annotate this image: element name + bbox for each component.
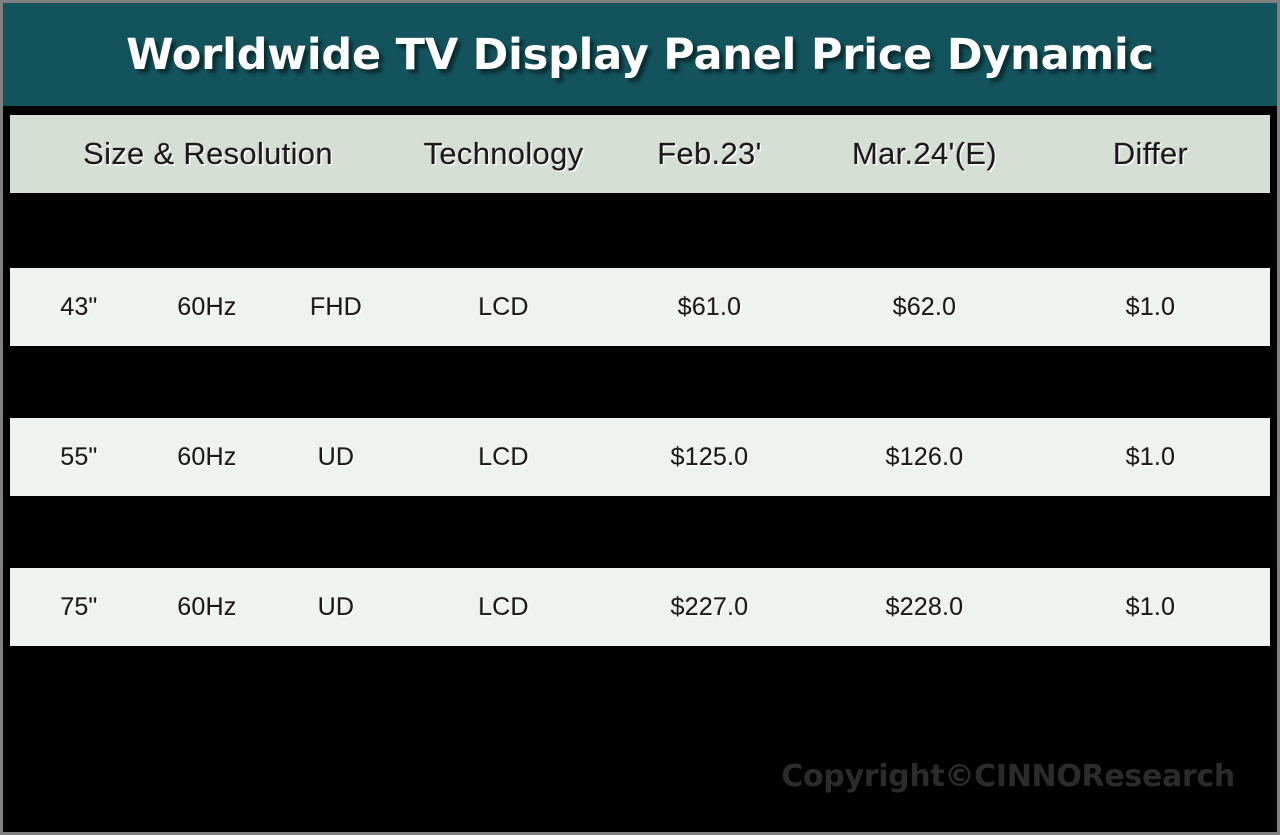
cell-size: 43" (10, 293, 148, 322)
cell-size: 55" (10, 443, 148, 472)
cell-price-feb23: $61.0 (601, 293, 818, 322)
column-header-technology: Technology (406, 136, 601, 172)
cell-refresh-rate: 60Hz (148, 443, 266, 472)
page-title: Worldwide TV Display Panel Price Dynamic (126, 30, 1154, 80)
table-row: 55" 60Hz UD LCD $125.0 $126.0 $1.0 (10, 418, 1270, 496)
cell-price-mar24e: $126.0 (818, 443, 1031, 472)
cell-price-mar24e: $228.0 (818, 593, 1031, 622)
table-row: 43" 60Hz FHD LCD $61.0 $62.0 $1.0 (10, 268, 1270, 346)
cell-technology: LCD (406, 593, 601, 622)
screenshot-canvas: Worldwide TV Display Panel Price Dynamic… (0, 0, 1280, 835)
cell-resolution: FHD (266, 293, 406, 322)
cell-price-differ: $1.0 (1031, 593, 1270, 622)
cell-refresh-rate: 60Hz (148, 293, 266, 322)
cell-price-feb23: $125.0 (601, 443, 818, 472)
table-row: 75" 60Hz UD LCD $227.0 $228.0 $1.0 (10, 568, 1270, 646)
cell-price-mar24e: $62.0 (818, 293, 1031, 322)
cell-resolution: UD (266, 593, 406, 622)
copyright-watermark: Copyright©CINNOResearch (781, 759, 1235, 794)
table-header-row: Size & Resolution Technology Feb.23' Mar… (10, 115, 1270, 193)
column-header-feb23: Feb.23' (601, 136, 818, 172)
cell-technology: LCD (406, 293, 601, 322)
column-header-size-resolution: Size & Resolution (10, 136, 406, 172)
cell-resolution: UD (266, 443, 406, 472)
column-header-differ: Differ (1031, 136, 1270, 172)
cell-refresh-rate: 60Hz (148, 593, 266, 622)
cell-price-differ: $1.0 (1031, 293, 1270, 322)
cell-price-differ: $1.0 (1031, 443, 1270, 472)
cell-price-feb23: $227.0 (601, 593, 818, 622)
cell-technology: LCD (406, 443, 601, 472)
title-banner: Worldwide TV Display Panel Price Dynamic (3, 3, 1277, 106)
column-header-mar24e: Mar.24'(E) (818, 136, 1031, 172)
cell-size: 75" (10, 593, 148, 622)
